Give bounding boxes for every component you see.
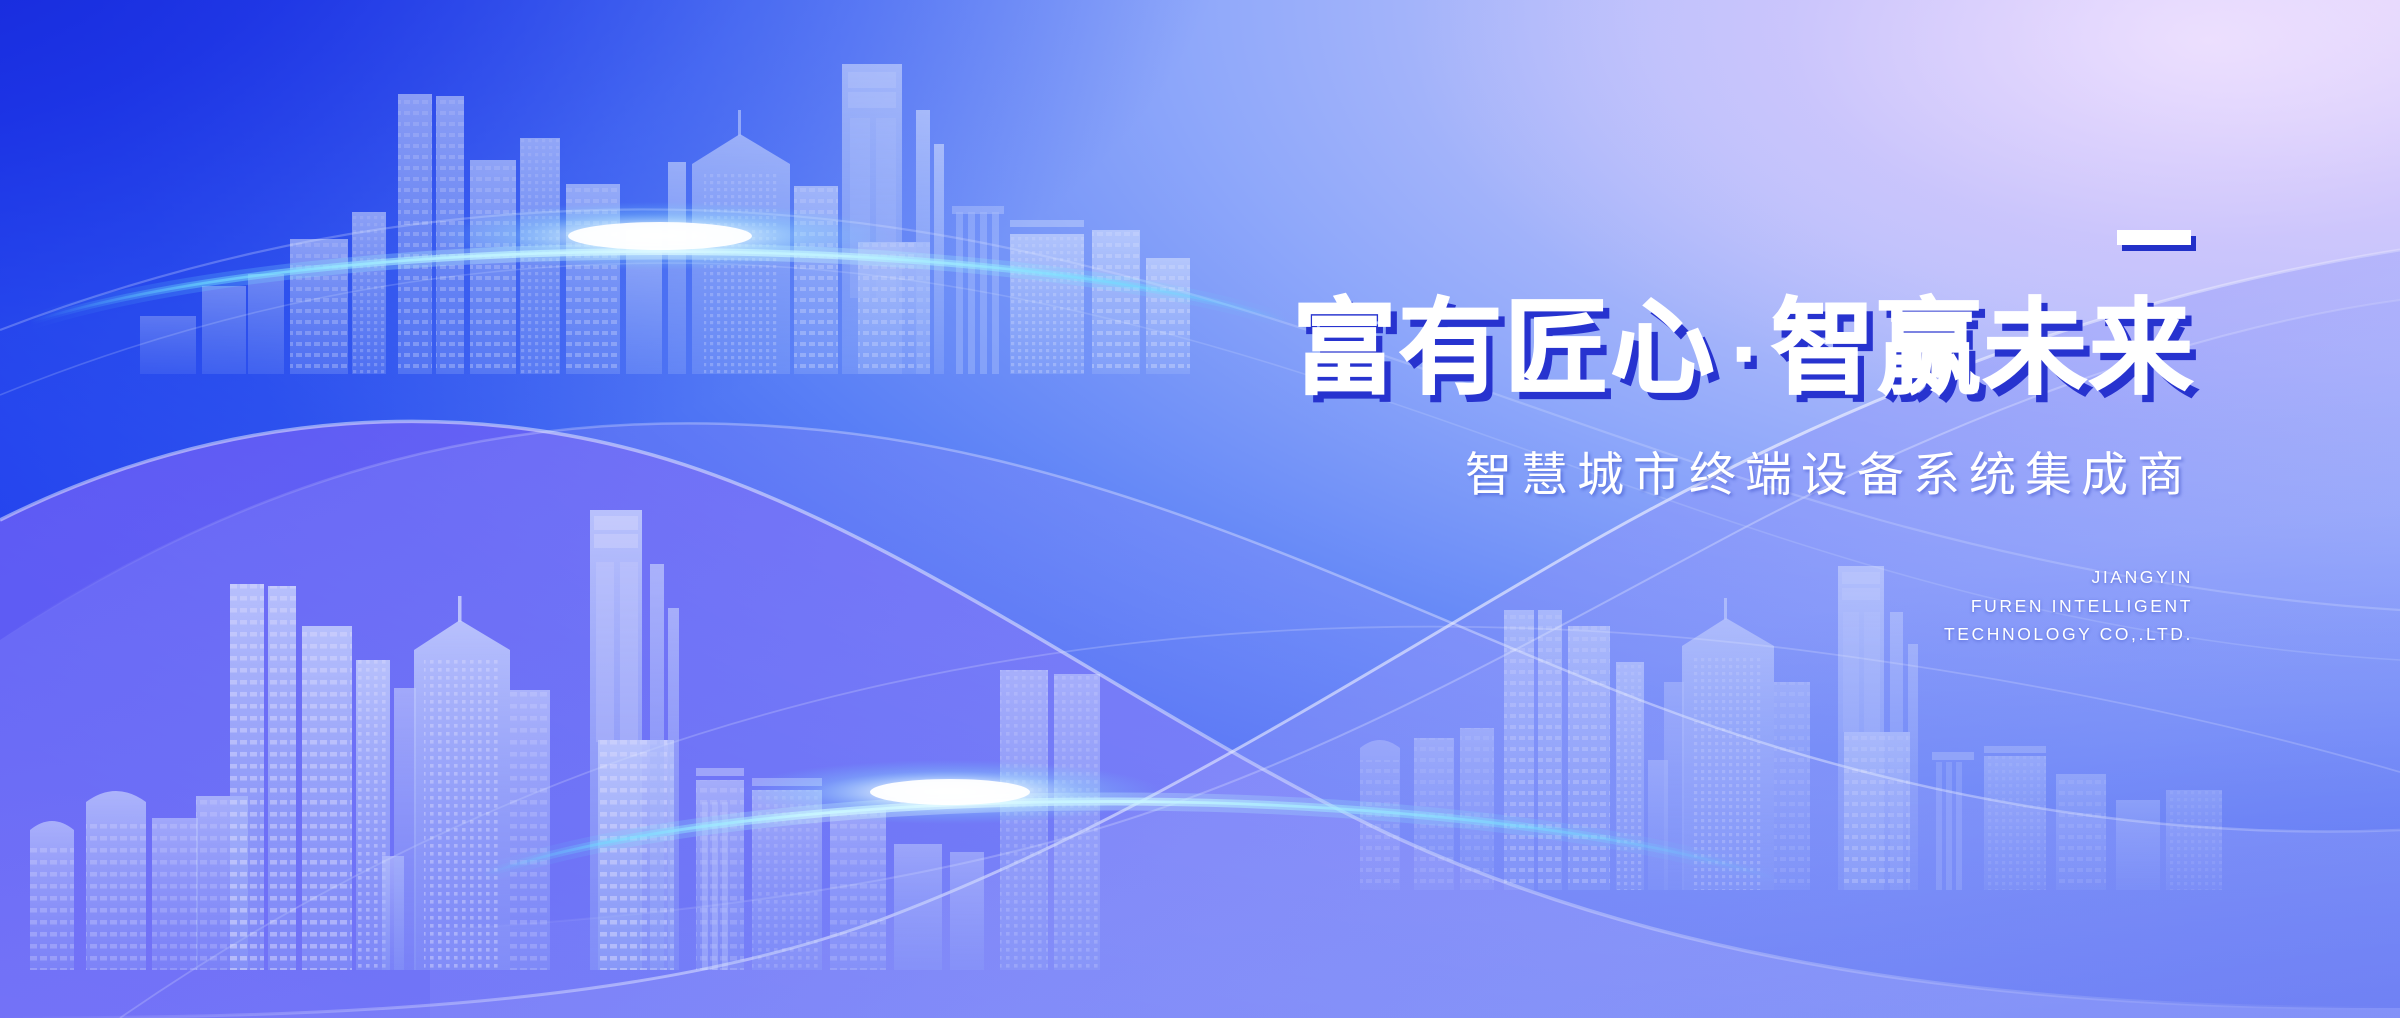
page-title: 富有匠心·智赢未来 <box>1075 294 2195 402</box>
company-name-line-2: FUREN INTELLIGENT <box>1075 592 2193 620</box>
headline-separator-dot: · <box>1716 314 1771 396</box>
banner-poster: 富有匠心·智赢未来 智慧城市终端设备系统集成商 JIANGYIN FUREN I… <box>0 0 2400 1018</box>
headline-right: 智赢未来 <box>1771 287 2195 409</box>
company-name: JIANGYIN FUREN INTELLIGENT TECHNOLOGY CO… <box>1075 563 2195 648</box>
page-subtitle: 智慧城市终端设备系统集成商 <box>1075 436 2195 505</box>
company-name-line-1: JIANGYIN <box>1075 563 2193 591</box>
city-skyline-bottomleft-icon <box>0 500 1110 970</box>
headline-left: 富有匠心 <box>1292 287 1716 409</box>
accent-dash-mark <box>2117 230 2191 245</box>
banner-text-block: 富有匠心·智赢未来 智慧城市终端设备系统集成商 JIANGYIN FUREN I… <box>1075 230 2195 648</box>
city-skyline-top-icon <box>80 34 1200 374</box>
company-name-line-3: TECHNOLOGY CO,.LTD. <box>1075 620 2193 648</box>
